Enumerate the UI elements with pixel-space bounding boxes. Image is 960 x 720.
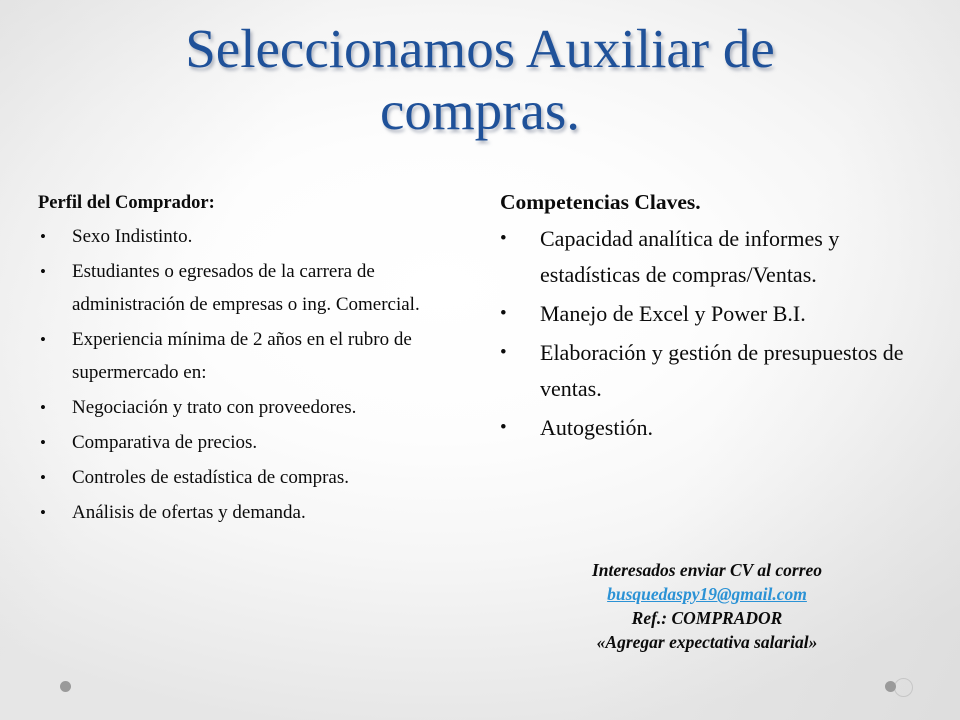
left-column-heading: Perfil del Comprador: [30,193,470,214]
list-item-label: Capacidad analítica de informes y estadí… [540,221,932,293]
bullet-icon: • [40,255,54,288]
list-item: • Análisis de ofertas y demanda. [30,496,470,529]
contact-email-line: busquedaspy19@gmail.com [492,582,922,606]
list-item: • Negociación y trato con proveedores. [30,391,470,424]
list-item-label: Manejo de Excel y Power B.I. [540,296,932,332]
right-column-heading: Competencias Claves. [492,190,932,215]
list-item-label: Análisis de ofertas y demanda. [72,496,470,529]
bullet-icon: • [40,323,54,356]
list-item: • Capacidad analítica de informes y esta… [492,221,932,293]
list-item-label: Estudiantes o egresados de la carrera de… [72,255,470,321]
decorative-ring-right-icon [894,678,913,697]
bullet-icon: • [40,426,54,459]
page-title-line-1: Seleccionamos Auxiliar de [60,18,900,80]
list-item: • Controles de estadística de compras. [30,461,470,494]
bullet-icon: • [40,496,54,529]
page-title-line-2: compras. [60,80,900,142]
list-item: • Estudiantes o egresados de la carrera … [30,255,470,321]
list-item-label: Comparativa de precios. [72,426,470,459]
contact-salary-note: «Agregar expectativa salarial» [492,630,922,654]
bullet-icon: • [500,410,514,446]
list-item: • Comparativa de precios. [30,426,470,459]
page-title: Seleccionamos Auxiliar de compras. [60,18,900,141]
right-column-bullet-list: • Capacidad analítica de informes y esta… [492,221,932,446]
list-item-label: Elaboración y gestión de presupuestos de… [540,335,932,407]
bullet-icon: • [500,296,514,332]
list-item-label: Controles de estadística de compras. [72,461,470,494]
slide-canvas: Seleccionamos Auxiliar de compras. Perfi… [0,0,960,720]
list-item: • Manejo de Excel y Power B.I. [492,296,932,332]
list-item-label: Negociación y trato con proveedores. [72,391,470,424]
list-item-label: Sexo Indistinto. [72,220,470,253]
list-item: • Sexo Indistinto. [30,220,470,253]
list-item-label: Experiencia mínima de 2 años en el rubro… [72,323,470,389]
bullet-icon: • [40,391,54,424]
list-item-label: Autogestión. [540,410,932,446]
list-item: • Autogestión. [492,410,932,446]
bullet-icon: • [500,221,514,257]
bullet-icon: • [500,335,514,371]
left-column: Perfil del Comprador: • Sexo Indistinto.… [30,193,470,531]
email-link[interactable]: busquedaspy19@gmail.com [607,582,807,606]
bullet-icon: • [40,220,54,253]
decorative-dot-right-icon [885,681,896,692]
bullet-icon: • [40,461,54,494]
contact-block: Interesados enviar CV al correo busqueda… [492,558,922,654]
right-column: Competencias Claves. • Capacidad analíti… [492,190,932,449]
contact-instruction: Interesados enviar CV al correo [492,558,922,582]
list-item: • Elaboración y gestión de presupuestos … [492,335,932,407]
decorative-dot-left-icon [60,681,71,692]
list-item: • Experiencia mínima de 2 años en el rub… [30,323,470,389]
left-column-bullet-list: • Sexo Indistinto. • Estudiantes o egres… [30,220,470,529]
contact-reference: Ref.: COMPRADOR [492,606,922,630]
